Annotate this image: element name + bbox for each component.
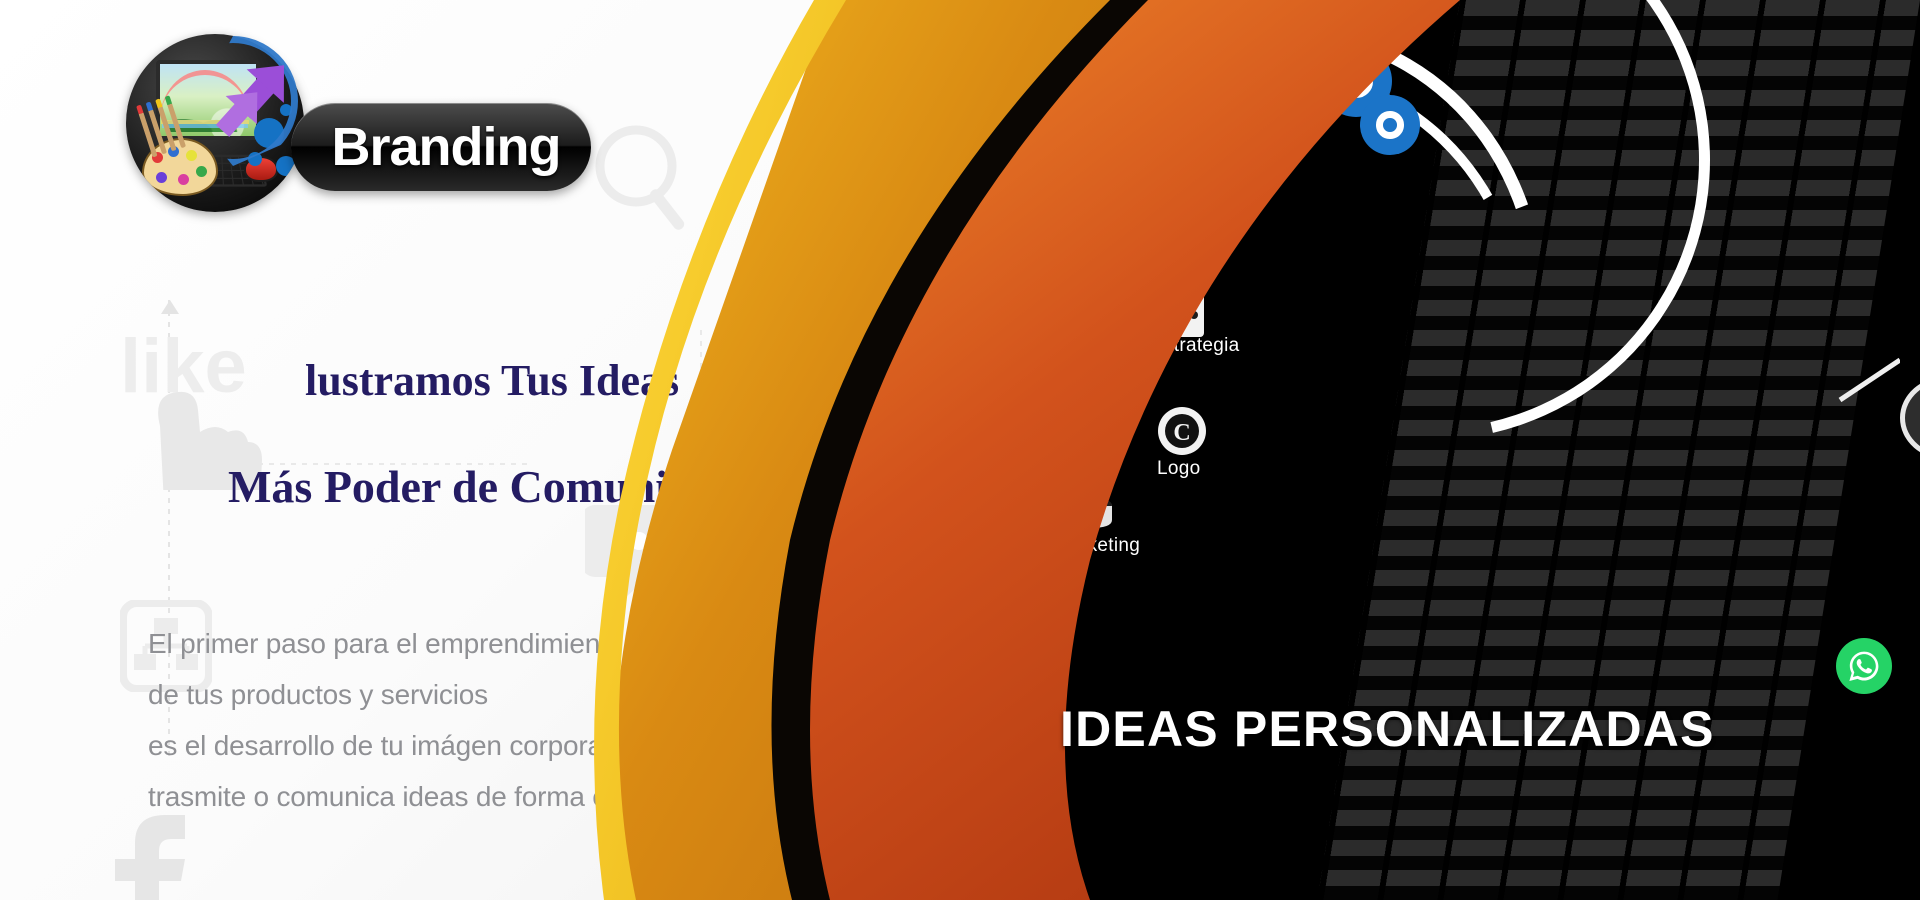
copyright-icon: C [1156, 405, 1208, 457]
artwork-panel: ad Diseño Valor Estrategia C [1020, 0, 1920, 900]
mindmap-arrows [1020, 250, 1900, 670]
branding-banner: ad Diseño Valor Estrategia C [0, 0, 1920, 900]
card-icon [930, 640, 1010, 750]
monitor-icon [920, 370, 1010, 490]
headline-primary: lustramos Tus Ideas [305, 355, 679, 406]
body-copy-line-4: trasmite o comunica ideas de forma efect… [148, 771, 695, 822]
blue-circle-accent [1360, 95, 1420, 155]
headline-secondary: Más Poder de Comunicación. [228, 460, 805, 513]
dotted-arrow-icon [161, 300, 179, 314]
mindmap-label-valor: Valor [1080, 272, 1124, 294]
svg-text:C: C [1173, 420, 1190, 446]
artwork-tagline: IDEAS PERSONALIZADAS [1060, 700, 1715, 758]
body-copy-line-1: El primer paso para el emprendimiento [148, 618, 695, 669]
mindmap-label-estrategia: Estrategia [1151, 335, 1240, 357]
branding-pill-label: Branding [322, 116, 561, 178]
mindmap-label-publicidad: Publicidad [1020, 535, 1033, 557]
body-copy-line-3: es el desarrollo de tu imágen corporativ… [148, 720, 695, 771]
facebook-f-icon [95, 815, 205, 900]
brand-cloud: BRAND [1900, 350, 1920, 470]
pie-chart-icon [1062, 480, 1120, 536]
body-copy: El primer paso para el emprendimiento de… [148, 618, 695, 822]
brand-logo [126, 34, 316, 234]
clipboard-strategy-icon [1160, 285, 1210, 341]
pencil-ruler-icon [1020, 195, 1036, 249]
content-panel: like [0, 0, 1010, 900]
mindmap-label-diseno: Diseño [1020, 258, 1039, 280]
whatsapp-floating-button[interactable] [1836, 638, 1892, 694]
branding-pill-button[interactable]: Branding [291, 103, 591, 191]
magnifier-icon [590, 120, 700, 250]
whatsapp-icon [1846, 648, 1882, 684]
location-pin-icon [805, 520, 897, 650]
coins-icon [1080, 215, 1142, 271]
chat-bubbles-icon [585, 495, 735, 615]
cloud-label: BRAND [1900, 384, 1920, 446]
mindmap-label-logo: Logo [1157, 458, 1200, 480]
envelope-icon [800, 705, 950, 815]
body-copy-line-2: de tus productos y servicios [148, 669, 695, 720]
mindmap-label-marketing: Marketing [1054, 535, 1140, 557]
